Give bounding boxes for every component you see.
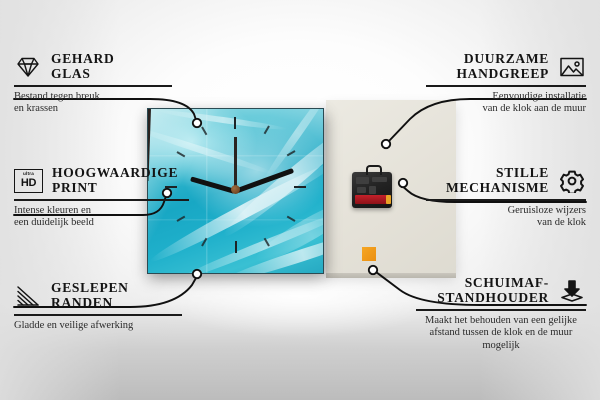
feature-title-row: STILLE MECHANISME — [426, 166, 586, 195]
gear-icon — [558, 169, 586, 193]
feature-title: STILLE MECHANISME — [446, 166, 549, 195]
callout-dot-duurzame-handgreep — [382, 140, 390, 148]
feature-title: SCHUIMAF- STANDHOUDER — [437, 276, 549, 305]
feature-title-row: GESLEPEN RANDEN — [14, 281, 184, 310]
callout-dot-stille-mechanisme — [399, 179, 407, 187]
beveled-edges-icon — [14, 284, 42, 308]
feature-subtitle: Bestand tegen breuk en krassen — [14, 91, 174, 116]
feature-gehard-glas: GEHARD GLAS Bestand tegen breuk en krass… — [14, 52, 174, 116]
feature-rule — [426, 85, 586, 87]
callout-dot-gehard-glas — [193, 119, 201, 127]
feature-rule — [14, 85, 172, 87]
feature-title: DUURZAME HANDGREEP — [456, 52, 549, 81]
callout-dot-geslepen-randen — [193, 270, 201, 278]
feature-geslepen-randen: GESLEPEN RANDEN Gladde en veilige afwerk… — [14, 281, 184, 332]
feature-rule — [426, 199, 586, 201]
feature-rule — [14, 314, 182, 316]
picture-frame-icon — [558, 55, 586, 79]
product-infographic: GEHARD GLAS Bestand tegen breuk en krass… — [0, 0, 600, 400]
feature-schuimafstandhouder: SCHUIMAF- STANDHOUDER Maakt het behouden… — [416, 276, 586, 352]
feature-rule — [14, 199, 189, 201]
feature-title-row: SCHUIMAF- STANDHOUDER — [416, 276, 586, 305]
feature-duurzame-handgreep: DUURZAME HANDGREEP Eenvoudige installati… — [426, 52, 586, 116]
feature-title: GEHARD GLAS — [51, 52, 114, 81]
ultra-hd-icon: ultra HD — [14, 169, 43, 193]
feature-title: GESLEPEN RANDEN — [51, 281, 129, 310]
feature-title: HOOGWAARDIGE PRINT — [52, 166, 178, 195]
diamond-icon — [14, 55, 42, 79]
feature-stille-mechanisme: STILLE MECHANISME Geruisloze wijzers van… — [426, 166, 586, 230]
feature-subtitle: Eenvoudige installatie van de klok aan d… — [426, 91, 586, 116]
feature-title-row: DUURZAME HANDGREEP — [426, 52, 586, 81]
feature-title-row: GEHARD GLAS — [14, 52, 174, 81]
feature-rule — [416, 309, 586, 311]
feature-subtitle: Geruisloze wijzers van de klok — [426, 205, 586, 230]
feature-hoogwaardige-print: ultra HD HOOGWAARDIGE PRINT Intense kleu… — [14, 166, 194, 230]
feature-subtitle: Maakt het behouden van een gelijke afsta… — [416, 315, 586, 353]
feature-subtitle: Intense kleuren en een duidelijk beeld — [14, 205, 194, 230]
feature-title-row: ultra HD HOOGWAARDIGE PRINT — [14, 166, 194, 195]
callout-dot-schuimafstandhouder — [369, 266, 377, 274]
feature-subtitle: Gladde en veilige afwerking — [14, 320, 184, 333]
download-tray-icon — [558, 279, 586, 303]
